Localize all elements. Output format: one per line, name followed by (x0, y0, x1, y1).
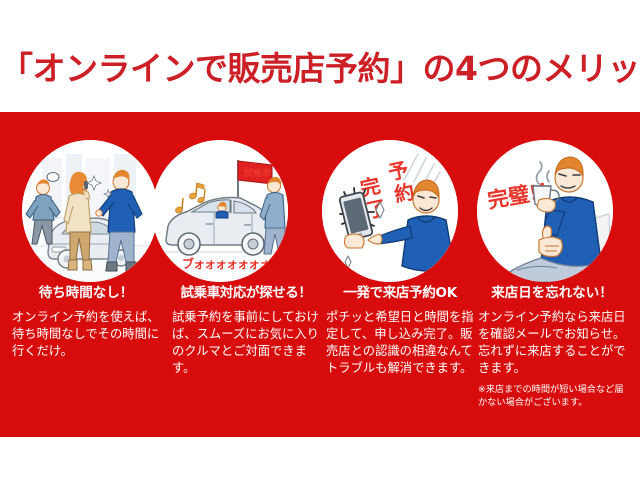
engine-sound-text: ブォォォォォォォン (182, 256, 282, 271)
benefit-heading-3: 一発で来店予約OK (326, 284, 474, 302)
benefit-heading-4: 来店日を忘れない！ (478, 284, 626, 302)
benefit-body-2: 試乗予約を事前にしておけば、スムーズにお気に入りのクルマとご対面できます。 (172, 309, 320, 377)
benefit-column-3: 一発で来店予約OK ポチッと希望日と時間を指定して、申し込み完了。販売店との認識… (326, 284, 474, 377)
promotional-poster: 「オンラインで販売店予約」の4つのメリット (0, 0, 640, 480)
illustration-row: 試乗車 ブォォォォォォォン (0, 140, 640, 282)
page-title: 「オンラインで販売店予約」の4つのメリット (0, 46, 640, 92)
test-drive-car-illustration: 試乗車 ブォォォォォォォン (152, 140, 288, 282)
benefit-heading-2: 試乗車対応が探せる！ (172, 284, 320, 302)
benefit-body-4: オンライン予約なら来店日を確認メールでお知らせ。忘れずに来店することができます。 (478, 309, 626, 377)
benefit-body-1: オンライン予約を使えば、待ち時間なしでその時間に行くだけ。 (12, 309, 160, 360)
flag-label: 試乗車 (244, 167, 271, 179)
benefit-column-1: 待ち時間なし！ オンライン予約を使えば、待ち時間なしでその時間に行くだけ。 (12, 284, 160, 360)
benefit-note-4: ※来店までの時間が短い場合など届かない場合がございます。 (478, 384, 626, 409)
benefit-heading-1: 待ち時間なし！ (12, 284, 160, 302)
benefit-column-4: 来店日を忘れない！ オンライン予約なら来店日を確認メールでお知らせ。忘れずに来店… (478, 284, 626, 409)
smartphone-booking-illustration: 予 約 完 了 (322, 140, 458, 282)
showroom-customers-illustration (22, 140, 158, 282)
benefit-column-2: 試乗車対応が探せる！ 試乗予約を事前にしておけば、スムーズにお気に入りのクルマと… (172, 284, 320, 377)
benefit-body-3: ポチッと希望日と時間を指定して、申し込み完了。販売店との認識の相違なんてトラブル… (326, 309, 474, 377)
relaxed-man-thumbsup-illustration: 完璧!! (477, 140, 613, 282)
